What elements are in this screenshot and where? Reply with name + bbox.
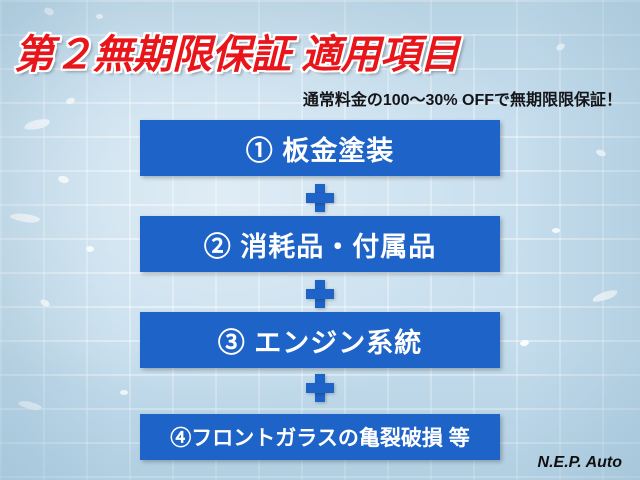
coverage-item-1-label: ① 板金塗装 bbox=[246, 129, 395, 168]
plus-icon bbox=[306, 374, 334, 402]
brand-logo-text: N.E.P. Auto bbox=[538, 454, 622, 472]
coverage-item-4-label: ④フロントガラスの亀裂破損 等 bbox=[170, 422, 469, 452]
coverage-item-4: ④フロントガラスの亀裂破損 等 bbox=[140, 414, 500, 460]
page-title: 第２無期限保証 適用項目 bbox=[14, 22, 459, 80]
coverage-item-2: ② 消耗品・付属品 bbox=[140, 216, 500, 272]
coverage-item-2-label: ② 消耗品・付属品 bbox=[204, 225, 437, 264]
coverage-item-3-label: ③ エンジン系統 bbox=[218, 321, 423, 360]
poster-image: 第２無期限保証 適用項目 通常料金の100〜30% OFFで無期限限保証！ ① … bbox=[0, 0, 640, 480]
plus-icon bbox=[306, 184, 334, 212]
plus-icon bbox=[306, 280, 334, 308]
subtitle-text: 通常料金の100〜30% OFFで無期限限保証！ bbox=[303, 86, 622, 110]
coverage-item-1: ① 板金塗装 bbox=[140, 120, 500, 176]
coverage-item-3: ③ エンジン系統 bbox=[140, 312, 500, 368]
